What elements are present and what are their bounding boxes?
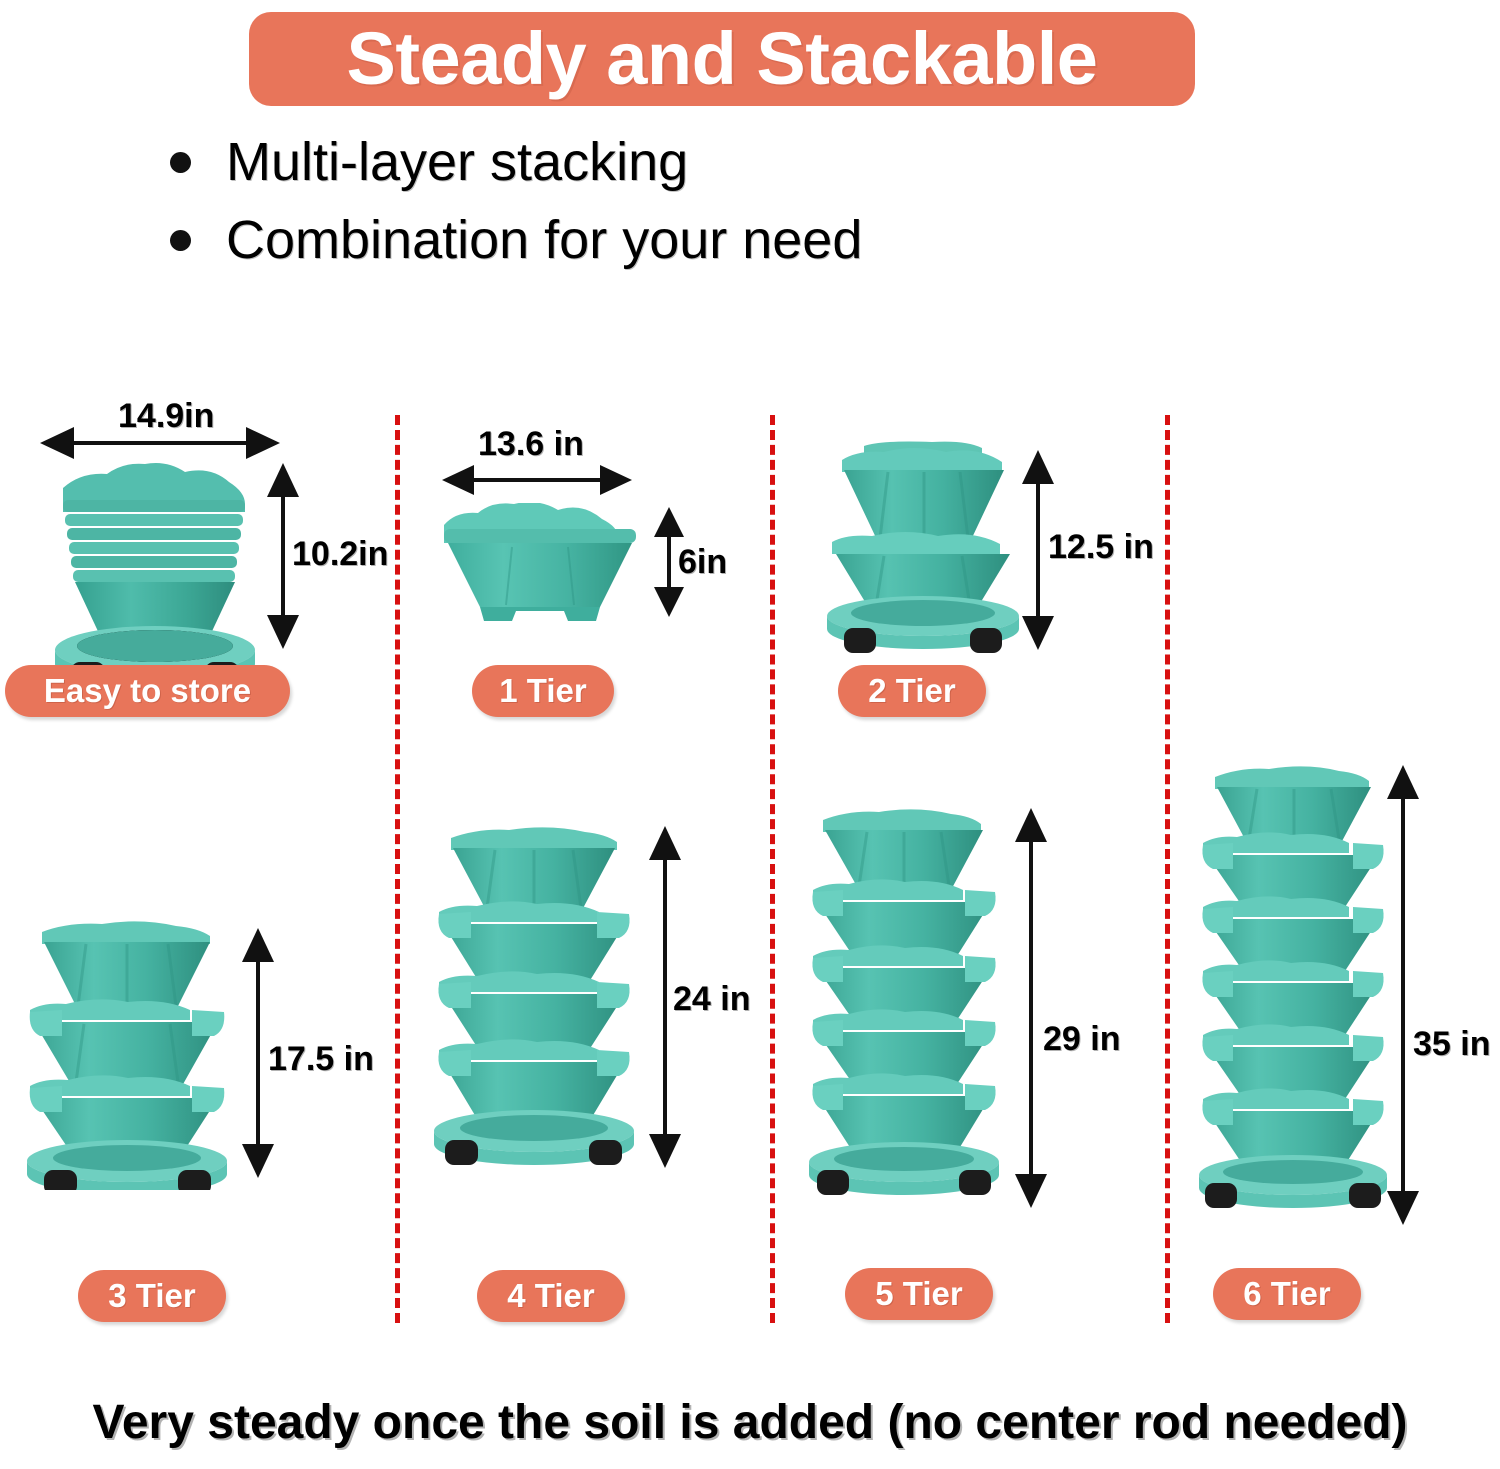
- height-dimension-label: 12.5 in: [1048, 528, 1154, 567]
- height-dimension-arrow: [1013, 808, 1049, 1208]
- width-dimension-label: 14.9in: [118, 397, 214, 436]
- badge-label: 6 Tier: [1243, 1275, 1330, 1313]
- footer-text: Very steady once the soil is added (no c…: [92, 1396, 1407, 1449]
- badge-label: 3 Tier: [108, 1277, 195, 1315]
- badge-label: 2 Tier: [868, 672, 955, 710]
- bullet-dot-icon: [170, 230, 191, 251]
- page-title: Steady and Stackable: [347, 22, 1098, 96]
- badge-two-tier: 2 Tier: [838, 665, 986, 717]
- column-divider: [1165, 415, 1170, 1323]
- product-cell-five-tier: 29 in 5 Tier: [795, 790, 1165, 1320]
- product-cell-six-tier: 35 in 6 Tier: [1185, 755, 1500, 1320]
- feature-bullet-list: Multi-layer stacking Combination for you…: [170, 130, 1170, 286]
- badge-label: 5 Tier: [875, 1275, 962, 1313]
- badge-easy-to-store: Easy to store: [5, 665, 290, 717]
- planter-illustration-three-tier: [22, 918, 232, 1190]
- badge-six-tier: 6 Tier: [1213, 1268, 1361, 1320]
- product-cell-four-tier: 24 in 4 Tier: [415, 800, 770, 1320]
- bullet-label: Multi-layer stacking: [226, 135, 688, 189]
- product-cell-easy-to-store: 14.9in: [0, 405, 395, 725]
- product-cell-three-tier: 17.5 in 3 Tier: [0, 900, 395, 1320]
- infographic-root: Steady and Stackable Multi-layer stackin…: [0, 0, 1500, 1469]
- planter-illustration-four-tier: [429, 826, 639, 1171]
- list-item: Combination for your need: [170, 208, 1170, 272]
- height-dimension-label: 17.5 in: [268, 1040, 374, 1079]
- planter-illustration-five-tier: [805, 808, 1005, 1208]
- height-dimension-label: 24 in: [673, 980, 750, 1019]
- badge-five-tier: 5 Tier: [845, 1268, 993, 1320]
- planter-illustration-six-tier: [1195, 765, 1395, 1225]
- column-divider: [395, 415, 400, 1323]
- column-divider: [770, 415, 775, 1323]
- product-cell-two-tier: 12.5 in 2 Tier: [800, 430, 1165, 730]
- badge-four-tier: 4 Tier: [477, 1270, 625, 1322]
- badge-label: 4 Tier: [507, 1277, 594, 1315]
- badge-label: 1 Tier: [499, 672, 586, 710]
- width-dimension-label: 13.6 in: [478, 425, 584, 464]
- bullet-label: Combination for your need: [226, 213, 862, 267]
- planter-illustration-two-tier: [818, 438, 1028, 653]
- height-dimension-label: 29 in: [1043, 1020, 1120, 1059]
- badge-three-tier: 3 Tier: [78, 1270, 226, 1322]
- planter-illustration-one-tier: [440, 503, 640, 628]
- badge-label: Easy to store: [44, 672, 251, 710]
- footer-caption: Very steady once the soil is added (no c…: [0, 1395, 1500, 1450]
- bullet-dot-icon: [170, 152, 191, 173]
- header-banner: Steady and Stackable: [249, 12, 1195, 106]
- list-item: Multi-layer stacking: [170, 130, 1170, 194]
- height-dimension-label: 35 in: [1413, 1025, 1490, 1064]
- height-dimension-arrow: [1385, 765, 1421, 1225]
- width-dimension-arrow: [442, 463, 632, 497]
- height-dimension-label: 6in: [678, 543, 727, 582]
- planter-illustration-easy-to-store: [45, 460, 275, 695]
- badge-one-tier: 1 Tier: [472, 665, 614, 717]
- height-dimension-label: 10.2in: [292, 535, 388, 574]
- product-cell-one-tier: 13.6 in: [420, 425, 770, 725]
